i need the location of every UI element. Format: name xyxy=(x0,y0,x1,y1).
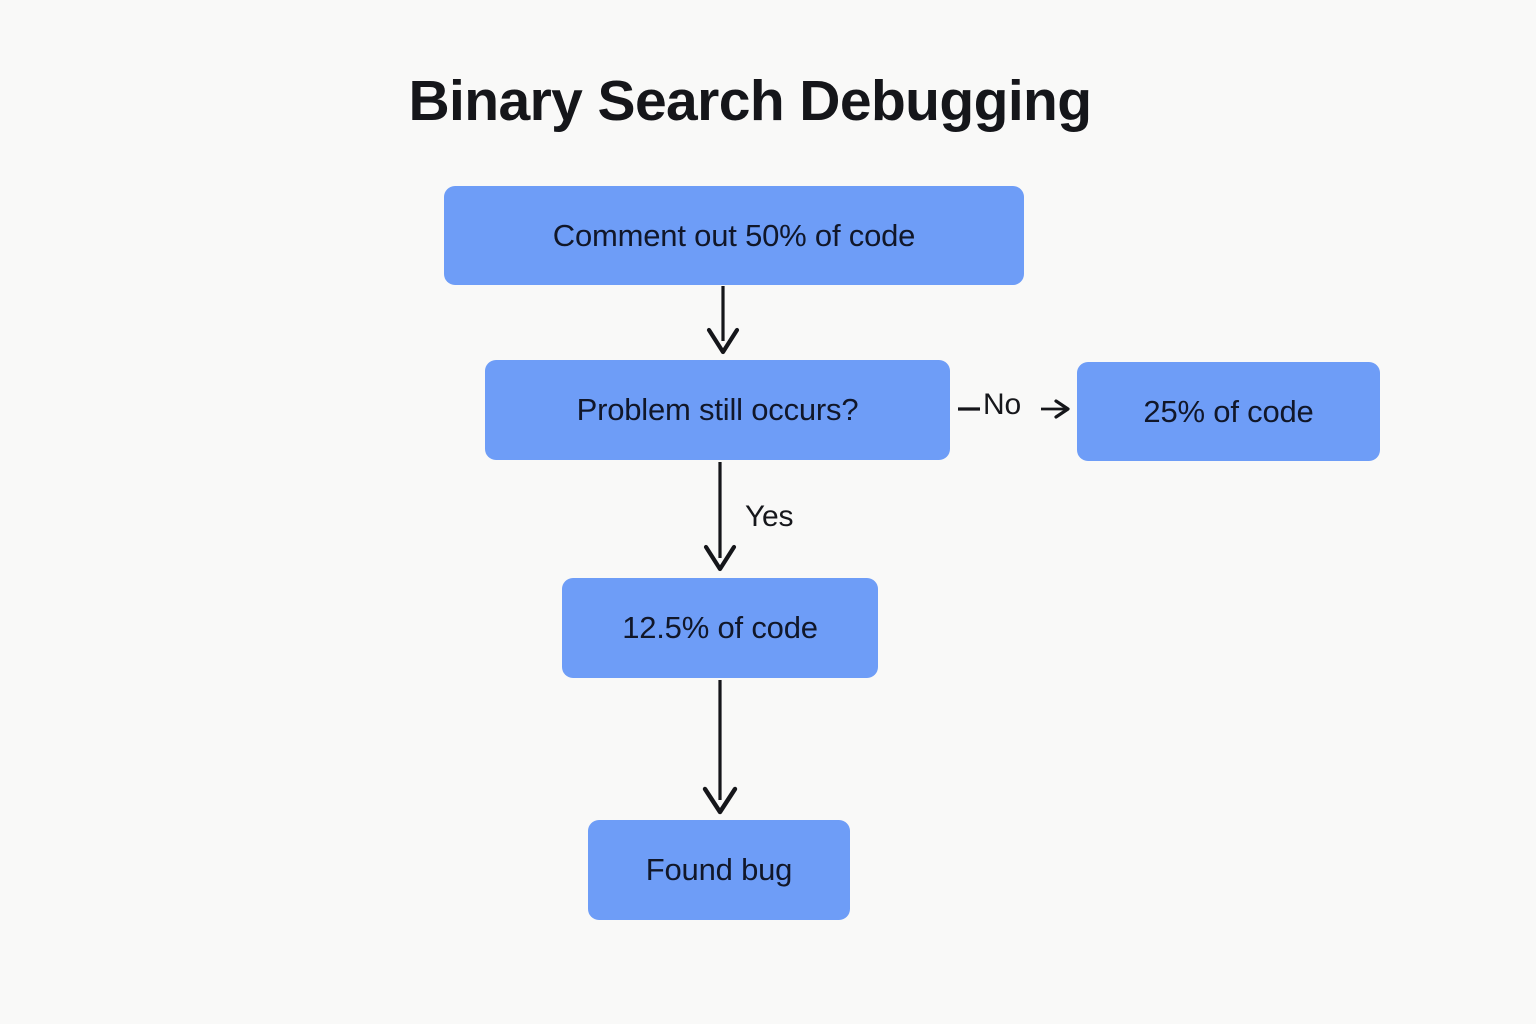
edge-decision-to-125 xyxy=(706,462,734,569)
edge-label-no: No xyxy=(983,388,1021,422)
page-title: Binary Search Debugging xyxy=(0,70,1500,133)
node-problem-still-occurs[interactable]: Problem still occurs? xyxy=(485,360,950,460)
node-found-bug[interactable]: Found bug xyxy=(588,820,850,920)
diagram-canvas: Binary Search Debugging Comment out 50% … xyxy=(0,0,1536,1024)
node-125-percent-of-code[interactable]: 12.5% of code xyxy=(562,578,878,678)
node-comment-out-50[interactable]: Comment out 50% of code xyxy=(444,186,1024,285)
edge-label-yes: Yes xyxy=(745,500,793,534)
node-25-percent-of-code[interactable]: 25% of code xyxy=(1077,362,1380,461)
edge-start-to-decision xyxy=(709,286,737,352)
edge-125-to-found xyxy=(705,680,735,812)
